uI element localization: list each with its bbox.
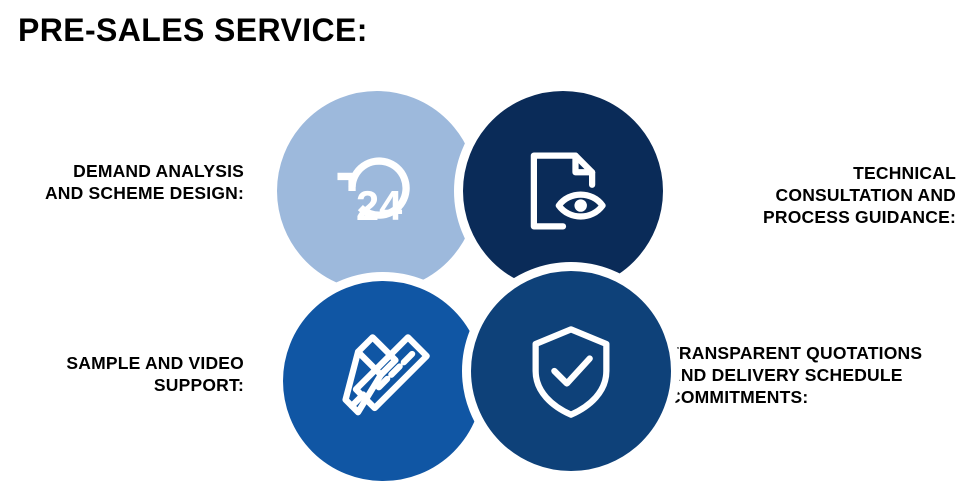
clock-24-rotate-icon: 24 bbox=[325, 139, 429, 243]
document-eye-review-icon bbox=[511, 139, 615, 243]
circle-node-transparent-quotations[interactable] bbox=[462, 262, 680, 480]
service-circles-diagram: 24 bbox=[266, 80, 686, 490]
label-sample-video-support: SAMPLE AND VIDEO SUPPORT: bbox=[0, 352, 244, 396]
page-title: PRE-SALES SERVICE: bbox=[18, 12, 368, 49]
shield-check-icon bbox=[519, 319, 623, 423]
circle-node-sample-video-support[interactable] bbox=[274, 272, 492, 490]
label-transparent-quotations: TRANSPARENT QUOTATIONS AND DELIVERY SCHE… bbox=[668, 342, 960, 408]
label-demand-analysis: DEMAND ANALYSIS AND SCHEME DESIGN: bbox=[0, 160, 244, 204]
pencil-ruler-cross-icon bbox=[331, 329, 435, 433]
label-technical-consultation: TECHNICAL CONSULTATION AND PROCESS GUIDA… bbox=[726, 162, 956, 228]
svg-text:24: 24 bbox=[356, 182, 402, 229]
